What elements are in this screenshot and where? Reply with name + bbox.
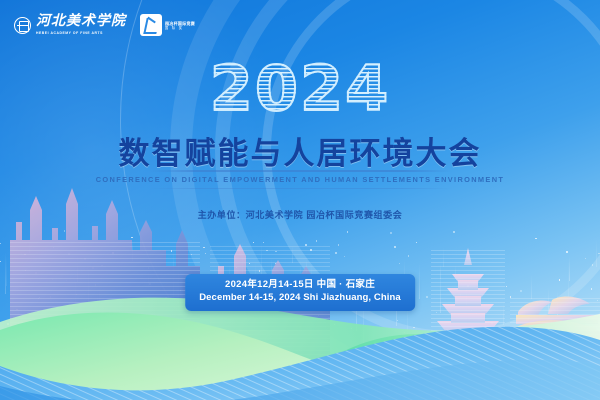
logo-bar: 河北美术学院 HEBEI ACADEMY OF FINE ARTS 园冶杯国际竞… xyxy=(14,14,195,36)
seal-emblem-icon xyxy=(14,17,31,34)
organizer-label: 主办单位：河北美术学院 园冶杯国际竞赛组委会 xyxy=(0,208,600,221)
date-cn-label: 2024年12月14-15日 中国 · 石家庄 xyxy=(199,279,401,292)
page-subtitle: CONFERENCE ON DIGITAL EMPOWERMENT AND HU… xyxy=(0,175,600,184)
title-rule-bottom xyxy=(148,188,452,189)
page-title: 数智赋能与人居环境大会 xyxy=(0,128,600,173)
logo-hebei-en-label: HEBEI ACADEMY OF FINE ARTS xyxy=(36,32,126,35)
logo-hebei-academy[interactable]: 河北美术学院 HEBEI ACADEMY OF FINE ARTS xyxy=(14,15,126,35)
date-en-label: December 14-15, 2024 Shi Jiazhuang, Chin… xyxy=(199,292,401,305)
date-badge: 2024年12月14-15日 中国 · 石家庄 December 14-15, … xyxy=(185,274,415,311)
logo-hebei-cn-label: 河北美术学院 xyxy=(36,15,126,29)
conference-poster: 河北美术学院 HEBEI ACADEMY OF FINE ARTS 园冶杯国际竞… xyxy=(0,0,600,400)
yuanye-mark-icon xyxy=(140,14,162,36)
year-label: 2024 xyxy=(210,52,391,125)
logo-yuanye-sub-label: 国 际 奖 xyxy=(165,26,195,30)
year-heading: 2024 xyxy=(0,52,600,125)
logo-yuanye-award[interactable]: 园冶杯国际竞赛 国 际 奖 xyxy=(140,14,195,36)
